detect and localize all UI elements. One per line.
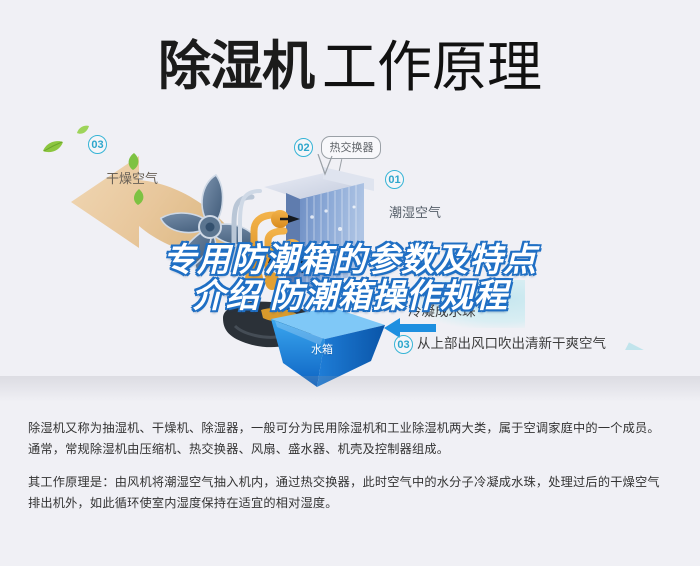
page-title: 除湿机工作原理 (0, 22, 700, 102)
diagram-step-03: 03从上部出风口吹出清新干爽空气 (394, 332, 606, 354)
working-principle-diagram: 水箱 03 干燥空气 02 热交换器 01 潮湿空气 冷凝成水珠 (0, 110, 700, 400)
diagram-label-humid-air: 01 潮湿空气 (385, 170, 441, 221)
callout-pointer-icon (316, 154, 334, 176)
dry-air-label-text: 干燥空气 (106, 168, 158, 187)
water-tank-label: 水箱 (311, 341, 333, 357)
article-body: 除湿机又称为抽湿机、干燥机、除湿器，一般可分为民用除湿机和工业除湿机两大类，属于… (0, 418, 700, 514)
leaf-icon (42, 140, 64, 154)
step-badge-03: 03 (88, 135, 107, 154)
diagram-label-dry-air: 03 干燥空气 (88, 135, 158, 187)
page-title-part1: 除湿机 (158, 37, 314, 96)
page-title-part2: 工作原理 (322, 36, 542, 98)
humid-air-label-text: 潮湿空气 (389, 202, 441, 221)
illustration-shadow (0, 376, 700, 402)
body-paragraph-2: 其工作原理是：由风机将潮湿空气抽入机内，通过热交换器，此时空气中的水分子冷凝成水… (28, 472, 672, 514)
diagram-step-02: 冷凝成水珠 (408, 300, 476, 320)
dehumidifier-infographic-page: 除湿机工作原理 (0, 0, 700, 566)
leaf-icon (132, 188, 146, 206)
step-02-text: 冷凝成水珠 (408, 304, 476, 319)
step-badge-01: 01 (385, 170, 404, 189)
step-badge-03-bottom: 03 (394, 335, 413, 354)
step-03-text: 从上部出风口吹出清新干爽空气 (417, 336, 606, 351)
step-badge-02: 02 (294, 138, 313, 157)
body-paragraph-1: 除湿机又称为抽湿机、干燥机、除湿器，一般可分为民用除湿机和工业除湿机两大类，属于… (28, 418, 672, 460)
diagram-label-heat-exchanger: 02 热交换器 (294, 136, 381, 159)
leaf-icon (76, 125, 90, 135)
